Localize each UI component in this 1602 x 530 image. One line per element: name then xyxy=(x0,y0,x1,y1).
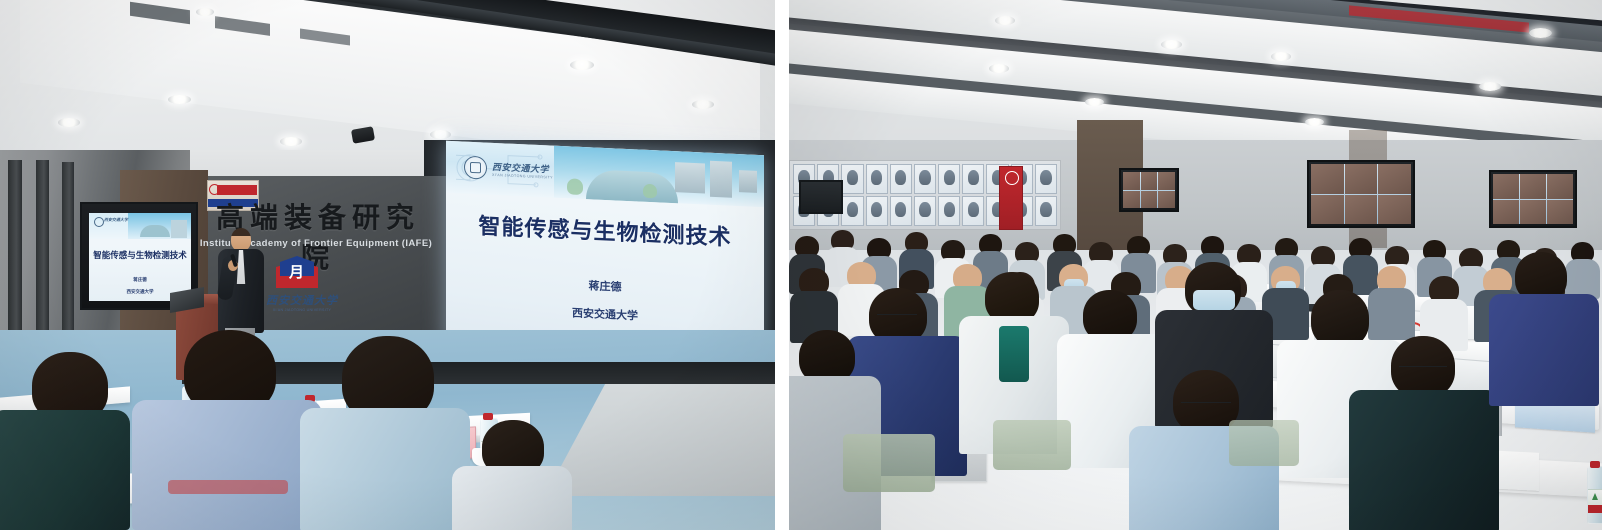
slide-title: 智能传感与生物检测技术 xyxy=(446,207,764,253)
portrait-frame xyxy=(866,164,888,194)
bottle-cap xyxy=(483,413,493,420)
wall-display-content xyxy=(1123,172,1175,208)
wall-display-content xyxy=(1493,174,1573,224)
chair xyxy=(993,420,1071,470)
attendee-jacket xyxy=(1349,390,1499,530)
attendee-shirt xyxy=(1489,294,1599,406)
chair xyxy=(1229,420,1299,466)
slide-university-logo: 西安交通大学 XI'AN JIAOTONG UNIVERSITY xyxy=(464,152,572,187)
projection-screen: 西安交通大学 XI'AN JIAOTONG UNIVERSITY 智能传感与生物… xyxy=(446,141,764,361)
glasses-icon xyxy=(877,314,917,319)
slide-tree xyxy=(643,184,657,199)
portrait-frame xyxy=(841,164,863,194)
downlight xyxy=(168,95,191,104)
downlight xyxy=(1271,52,1291,61)
portrait-frame xyxy=(962,164,984,194)
wall-university-name: 西安交通大学 xyxy=(262,292,342,308)
downlight xyxy=(280,137,302,146)
attendee-inner-top xyxy=(999,326,1029,382)
wall-display-right xyxy=(1307,160,1415,228)
wall-display-left xyxy=(1119,168,1179,212)
downlight xyxy=(1479,82,1501,91)
face-mask xyxy=(1193,290,1235,310)
attendee xyxy=(300,336,470,530)
downlight xyxy=(570,60,594,70)
chair xyxy=(843,434,935,492)
wall-display-content xyxy=(1311,164,1411,224)
portrait-frame xyxy=(890,164,912,194)
attendee xyxy=(0,352,130,530)
bottle-label-red xyxy=(1588,505,1602,513)
attendee-torso xyxy=(452,466,572,530)
attendee-torso xyxy=(0,410,130,530)
audience-seated-photo xyxy=(789,0,1602,530)
iafe-logo-icon: 月 xyxy=(276,252,318,288)
preview-slide-title: 智能传感与生物检测技术 xyxy=(89,249,191,261)
slide-building xyxy=(675,163,705,194)
plaque-red-bar xyxy=(217,185,257,195)
portrait-frame xyxy=(938,164,960,194)
preview-slide-speaker: 蒋庄德 xyxy=(89,277,191,283)
attendee-torso xyxy=(300,408,470,530)
attendee-lanyard xyxy=(168,480,288,494)
downlight xyxy=(989,64,1009,73)
speaker-head xyxy=(231,228,251,251)
glasses-icon xyxy=(1181,402,1231,407)
floor-inlay xyxy=(545,376,775,496)
plaque-seal-icon xyxy=(209,184,220,195)
university-seal-icon xyxy=(464,155,487,179)
lecture-hall-speaker-photo: 西安交通大学 智能传感与生物检测技术 蒋庄德 西安交通大学 高端装备研究院 In… xyxy=(0,0,775,530)
two-photo-composite: 西安交通大学 智能传感与生物检测技术 蒋庄德 西安交通大学 高端装备研究院 In… xyxy=(0,0,1602,530)
preview-monitor-slide: 西安交通大学 智能传感与生物检测技术 蒋庄德 西安交通大学 xyxy=(89,213,191,301)
downlight xyxy=(692,100,714,109)
attendee xyxy=(452,420,572,530)
bottle-cap xyxy=(1590,461,1600,468)
attendee-right-edge xyxy=(1489,252,1599,402)
attendee xyxy=(132,330,322,530)
downlight xyxy=(995,16,1015,25)
red-vertical-banner xyxy=(999,166,1023,230)
wall-university-name-sub: XI'AN JIAOTONG UNIVERSITY xyxy=(258,308,346,312)
glasses-icon xyxy=(1399,366,1447,371)
downlight xyxy=(58,118,80,127)
portrait-frame xyxy=(1035,164,1057,194)
portrait-frame xyxy=(914,164,936,194)
downlight xyxy=(1529,28,1552,38)
slide-speaker-name: 蒋庄德 xyxy=(446,271,764,301)
wall-display-far-right xyxy=(1489,170,1577,228)
slide-affiliation: 西安交通大学 xyxy=(446,299,764,329)
attendee-left-edge xyxy=(789,330,881,530)
attendee-front-right xyxy=(1349,336,1499,530)
slide-building xyxy=(739,170,757,193)
iafe-glyph: 月 xyxy=(289,265,304,280)
downlight xyxy=(196,8,214,16)
downlight xyxy=(430,130,451,139)
slide-building xyxy=(710,161,732,198)
attendee-torso xyxy=(132,400,322,530)
wall-display-small xyxy=(799,180,843,214)
downlight xyxy=(1161,40,1182,49)
downlight xyxy=(1305,118,1324,126)
downlight xyxy=(1085,98,1104,106)
water-bottle xyxy=(1587,466,1602,524)
